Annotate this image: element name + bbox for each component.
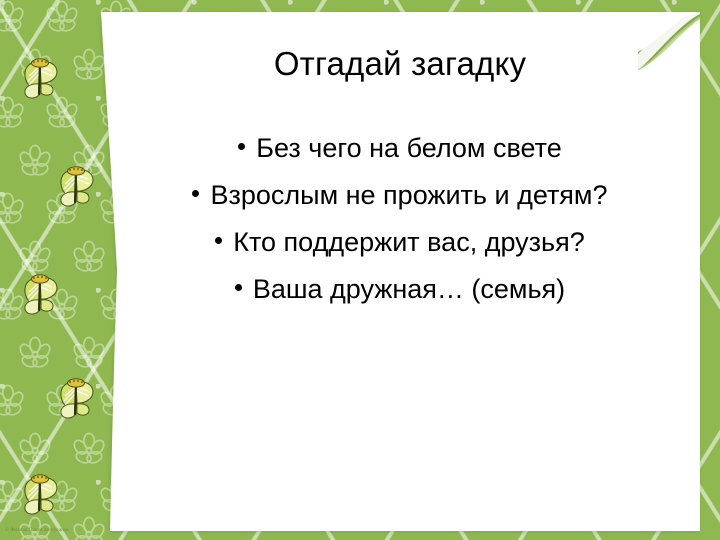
bullet-icon — [192, 190, 199, 197]
list-item-label: Взрослым не прожить и детям? — [210, 180, 607, 210]
page-title: Отгадай загадку — [130, 44, 670, 84]
bullet-icon — [215, 237, 222, 244]
slide: Отгадай загадку Без чего на белом свете … — [0, 0, 720, 540]
list-item-label: Без чего на белом свете — [256, 133, 561, 163]
watermark-text: © Филиал Лицея Загородная — [5, 527, 69, 534]
list-item: Без чего на белом свете — [130, 125, 670, 172]
list-item-label: Кто поддержит вас, друзья? — [233, 227, 585, 257]
list-item: Кто поддержит вас, друзья? — [130, 219, 670, 266]
bullet-icon — [238, 143, 245, 150]
list-item: Взрослым не прожить и детям? — [130, 172, 670, 219]
list-item-label: Ваша дружная… (семья) — [253, 274, 565, 304]
riddle-list: Без чего на белом свете Взрослым не прож… — [130, 125, 670, 313]
bullet-icon — [235, 284, 242, 291]
list-item: Ваша дружная… (семья) — [130, 266, 670, 313]
